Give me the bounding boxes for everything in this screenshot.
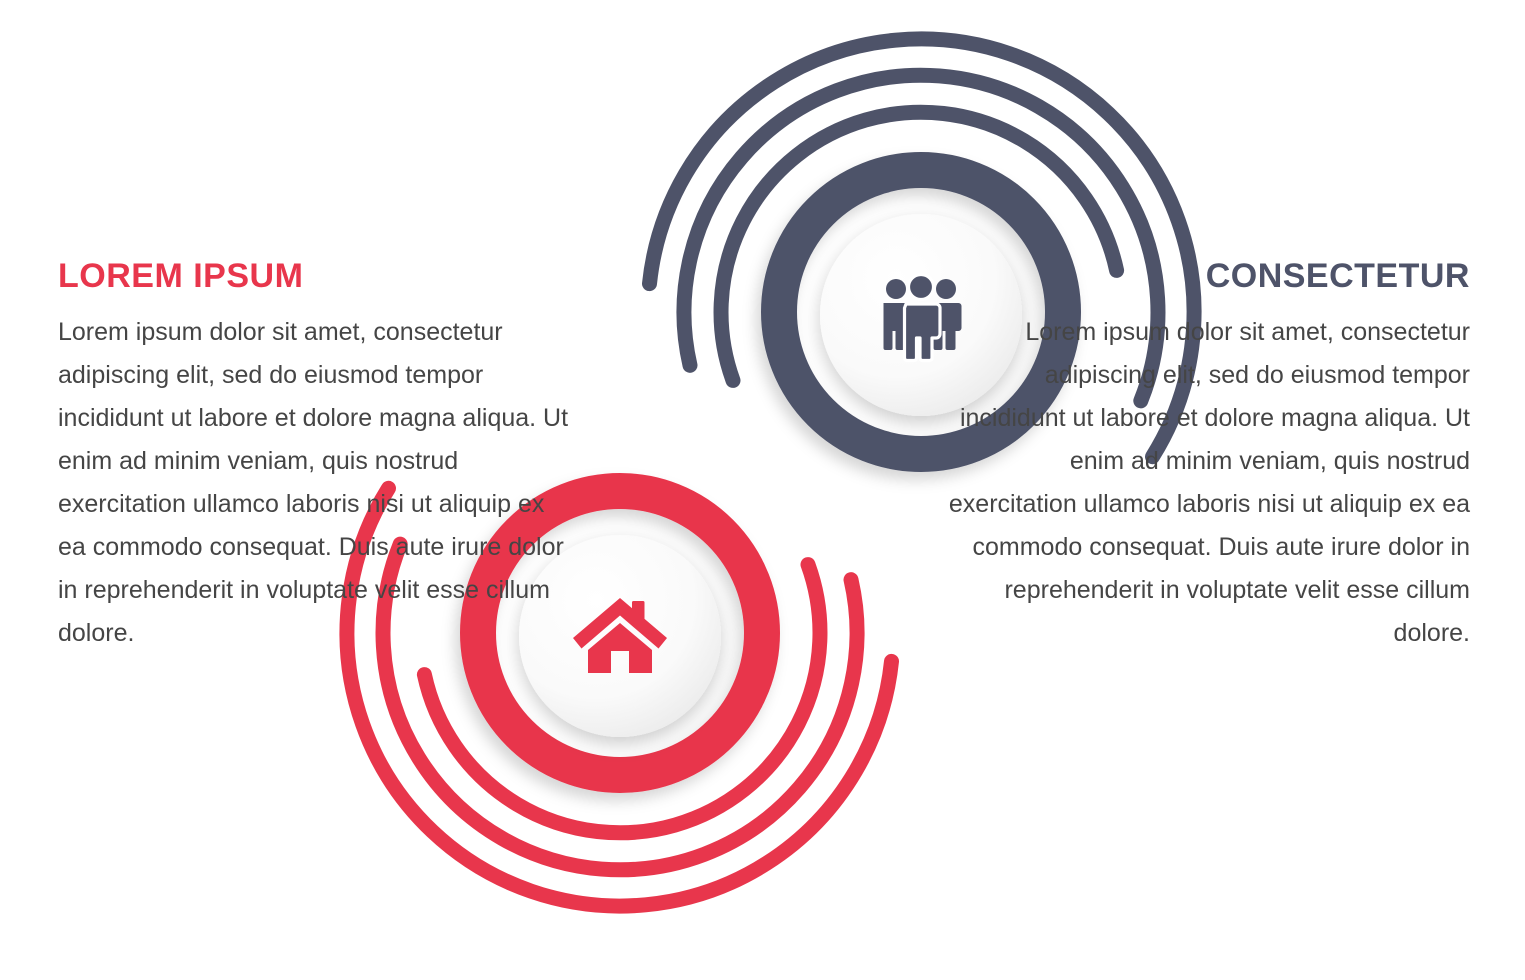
left-body-text: Lorem ipsum dolor sit amet, consectetur … bbox=[58, 311, 578, 655]
right-text-column: CONSECTETUR Lorem ipsum dolor sit amet, … bbox=[945, 258, 1470, 655]
left-heading: LOREM IPSUM bbox=[58, 258, 578, 295]
left-text-column: LOREM IPSUM Lorem ipsum dolor sit amet, … bbox=[58, 258, 578, 655]
home-icon-svg bbox=[572, 585, 668, 681]
home-icon bbox=[572, 585, 668, 681]
right-heading: CONSECTETUR bbox=[945, 258, 1470, 295]
infographic-canvas: LOREM IPSUM Lorem ipsum dolor sit amet, … bbox=[0, 0, 1525, 980]
right-body-text: Lorem ipsum dolor sit amet, consectetur … bbox=[945, 311, 1470, 655]
